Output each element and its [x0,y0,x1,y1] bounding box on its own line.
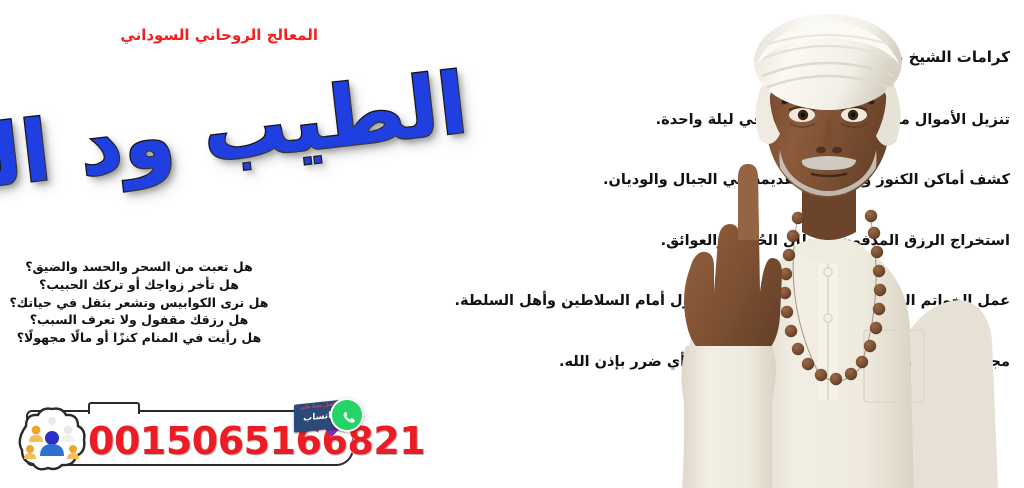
service-item: استخراج الرزق المدفون وإبطال الحُجُب وال… [310,233,1010,250]
contact-bar[interactable]: 0015065166821 تواصل معنا على واتساب [10,396,362,480]
service-item: كشف أماكن الكنوز والدفائن القديمة في الج… [310,172,1010,189]
contact-plate-notch [88,402,140,414]
service-item: تنزيل الأموال من الأسماء المباركة في ليل… [310,112,1010,129]
question-line: هل تأخر زواجك أو تركك الحبيب؟ [8,276,270,294]
service-item: مجرب في تسخير الأرواح للهيبة والنفوذ، دو… [310,354,1010,371]
question-line: هل رزقك مقفول ولا تعرف السبب؟ [8,311,270,329]
people-group-icon [16,406,88,472]
advertisement-banner: المعالج الروحاني السوداني الطيب ود النور… [0,0,1024,488]
service-item: عمل الخواتم النادرة لجلب الرزق والجاه وا… [310,293,1010,310]
whatsapp-phone-glyph [339,407,359,427]
services-list: كرامات الشيخ بإذن الله: تنزيل الأموال من… [310,48,1010,371]
questions-block: هل تعبت من السحر والحسد والضيق؟ هل تأخر … [8,258,270,347]
question-line: هل تعبت من السحر والحسد والضيق؟ [8,258,270,276]
whatsapp-icon[interactable] [330,398,364,432]
question-line: هل رأيت في المنام كنزًا أو مالًا مجهولًا… [8,329,270,347]
whatsapp-badge[interactable]: تواصل معنا على واتساب [294,398,364,444]
services-heading: كرامات الشيخ بإذن الله: [310,48,1010,66]
brand-tagline: المعالج الروحاني السوداني [128,28,318,43]
question-line: هل ترى الكوابيس وتشعر بثقل في حياتك؟ [8,294,270,312]
